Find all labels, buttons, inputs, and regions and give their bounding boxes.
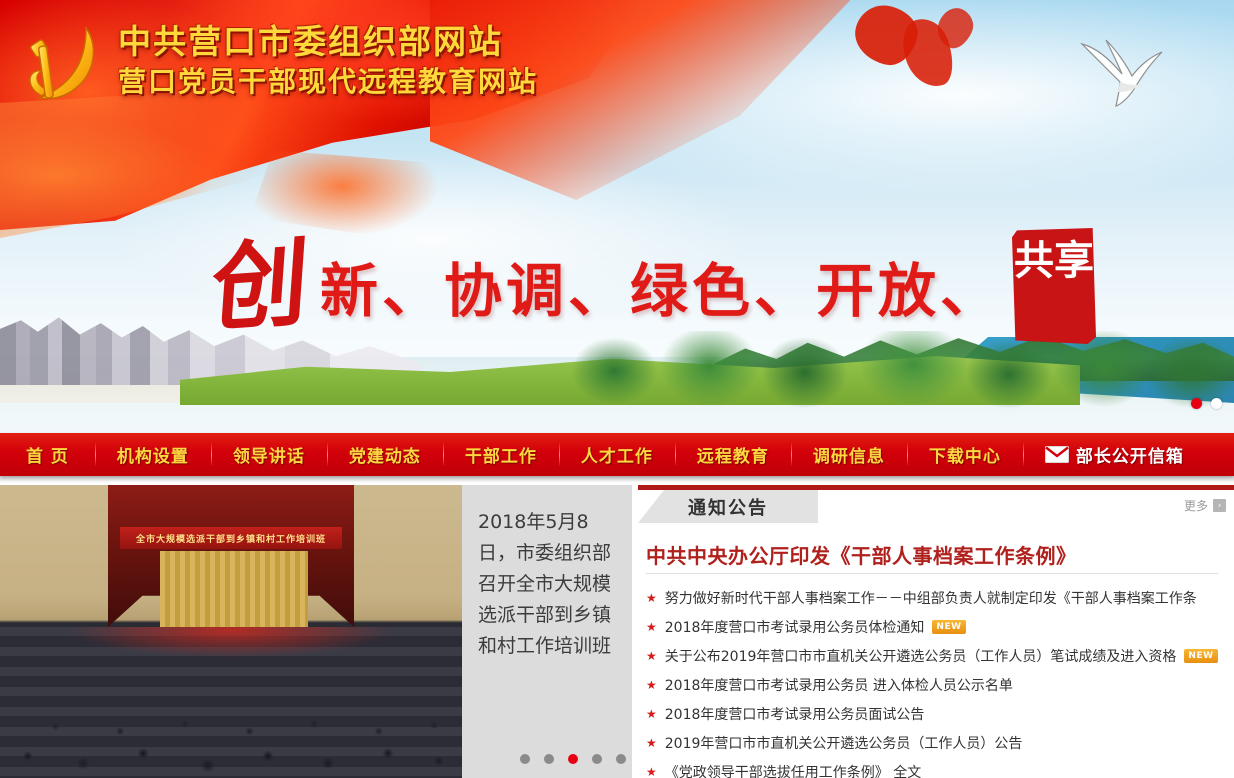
banner-dot[interactable] xyxy=(1191,398,1202,409)
list-item[interactable]: ★ 2018年度营口市考试录用公务员体检通知 NEW xyxy=(646,612,1222,641)
page-root: 中共营口市委组织部网站 营口党员干部现代远程教育网站 创 新、协调、绿色、开放、… xyxy=(0,0,1234,778)
hall-curtain xyxy=(160,551,308,637)
nav-item-talent-work[interactable]: 人才工作 xyxy=(559,433,675,476)
nav-item-party-news[interactable]: 党建动态 xyxy=(327,433,443,476)
list-item-label: 关于公布2019年营口市市直机关公开遴选公务员（工作人员）笔试成绩及进入资格 xyxy=(665,646,1177,666)
new-badge: NEW xyxy=(932,620,965,634)
site-title-sub: 营口党员干部现代远程教育网站 xyxy=(118,64,538,100)
featured-slideshow[interactable]: 全市大规模选派干部到乡镇和村工作培训班 2018年5月8日，市委组织部召开全市大… xyxy=(0,485,632,778)
hall-banner-text: 全市大规模选派干部到乡镇和村工作培训班 xyxy=(120,527,342,549)
list-item[interactable]: ★ 《党政领导干部选拔任用工作条例》 全文 xyxy=(646,757,1222,778)
nav-item-label: 远程教育 xyxy=(697,442,769,467)
star-bullet-icon: ★ xyxy=(646,591,657,605)
list-item[interactable]: ★ 努力做好新时代干部人事档案工作－－中组部负责人就制定印发《干部人事档案工作条 xyxy=(646,583,1222,612)
seagull-icon xyxy=(1076,34,1168,110)
list-item-label: 努力做好新时代干部人事档案工作－－中组部负责人就制定印发《干部人事档案工作条 xyxy=(665,588,1197,608)
nav-item-label: 部长公开信箱 xyxy=(1076,442,1184,467)
notice-top-bar xyxy=(638,485,1234,490)
chevron-right-icon: › xyxy=(1213,499,1226,512)
nav-item-research-info[interactable]: 调研信息 xyxy=(791,433,907,476)
site-title-block: 中共营口市委组织部网站 营口党员干部现代远程教育网站 xyxy=(118,22,538,100)
star-bullet-icon: ★ xyxy=(646,620,657,634)
nav-item-label: 党建动态 xyxy=(349,442,421,467)
slideshow-dot[interactable] xyxy=(568,754,578,764)
list-item[interactable]: ★ 2019年营口市市直机关公开遴选公务员（工作人员）公告 xyxy=(646,728,1222,757)
slideshow-dots[interactable] xyxy=(520,754,626,764)
new-badge: NEW xyxy=(1184,649,1217,663)
nav-item-label: 下载中心 xyxy=(929,442,1001,467)
nav-item-label: 领导讲话 xyxy=(233,442,305,467)
nav-item-organization[interactable]: 机构设置 xyxy=(95,433,211,476)
notice-more-label: 更多 xyxy=(1184,497,1208,514)
notice-panel-tab[interactable]: 通知公告 xyxy=(638,490,818,523)
envelope-icon xyxy=(1045,446,1069,463)
list-item[interactable]: ★ 关于公布2019年营口市市直机关公开遴选公务员（工作人员）笔试成绩及进入资格… xyxy=(646,641,1222,670)
notice-headline[interactable]: 中共中央办公厅印发《干部人事档案工作条例》 xyxy=(646,540,1216,569)
nav-item-distance-education[interactable]: 远程教育 xyxy=(675,433,791,476)
nav-item-label: 调研信息 xyxy=(813,442,885,467)
nav-item-download-center[interactable]: 下载中心 xyxy=(907,433,1023,476)
slogan-seal-left: 创 xyxy=(208,235,311,337)
notice-divider xyxy=(646,573,1218,574)
banner-dots[interactable] xyxy=(1191,398,1222,409)
site-banner: 中共营口市委组织部网站 营口党员干部现代远程教育网站 创 新、协调、绿色、开放、… xyxy=(0,0,1234,433)
notice-panel: 通知公告 更多 › 中共中央办公厅印发《干部人事档案工作条例》 ★ 努力做好新时… xyxy=(632,485,1234,778)
nav-item-label: 首 页 xyxy=(26,442,69,467)
slideshow-dot[interactable] xyxy=(616,754,626,764)
star-bullet-icon: ★ xyxy=(646,765,657,778)
list-item-label: 2019年营口市市直机关公开遴选公务员（工作人员）公告 xyxy=(665,733,1023,753)
slogan-seal-right: 共享 xyxy=(1012,228,1096,344)
slideshow-dot[interactable] xyxy=(544,754,554,764)
notice-more-link[interactable]: 更多 › xyxy=(1184,497,1226,514)
slideshow-dot[interactable] xyxy=(592,754,602,764)
list-item[interactable]: ★ 2018年度营口市考试录用公务员 进入体检人员公示名单 xyxy=(646,670,1222,699)
nav-item-minister-mailbox[interactable]: 部长公开信箱 xyxy=(1023,433,1206,476)
nav-item-label: 干部工作 xyxy=(465,442,537,467)
banner-slogan: 创 新、协调、绿色、开放、 共享 xyxy=(212,228,1096,344)
hall-audience-heads xyxy=(0,655,462,778)
list-item-label: 2018年度营口市考试录用公务员面试公告 xyxy=(665,704,925,724)
banner-dot[interactable] xyxy=(1211,398,1222,409)
nav-item-home[interactable]: 首 页 xyxy=(0,433,95,476)
slogan-text: 新、协调、绿色、开放、 xyxy=(320,244,1002,328)
star-bullet-icon: ★ xyxy=(646,649,657,663)
star-bullet-icon: ★ xyxy=(646,736,657,750)
list-item-label: 2018年度营口市考试录用公务员 进入体检人员公示名单 xyxy=(665,675,1013,695)
site-title-main: 中共营口市委组织部网站 xyxy=(118,22,538,62)
hammer-sickle-emblem xyxy=(12,16,108,112)
nav-item-label: 机构设置 xyxy=(117,442,189,467)
main-content: 全市大规模选派干部到乡镇和村工作培训班 2018年5月8日，市委组织部召开全市大… xyxy=(0,476,1234,778)
list-item[interactable]: ★ 2018年度营口市考试录用公务员面试公告 xyxy=(646,699,1222,728)
slideshow-dot[interactable] xyxy=(520,754,530,764)
list-item-label: 《党政领导干部选拔任用工作条例》 全文 xyxy=(665,762,921,778)
list-item-label: 2018年度营口市考试录用公务员体检通知 xyxy=(665,617,925,637)
slide-photo[interactable]: 全市大规模选派干部到乡镇和村工作培训班 xyxy=(0,485,462,778)
nav-item-leader-speech[interactable]: 领导讲话 xyxy=(211,433,327,476)
slide-caption: 2018年5月8日，市委组织部召开全市大规模选派干部到乡镇和村工作培训班 xyxy=(462,485,632,778)
star-bullet-icon: ★ xyxy=(646,707,657,721)
nav-item-label: 人才工作 xyxy=(581,442,653,467)
main-navigation: 首 页 机构设置 领导讲话 党建动态 干部工作 人才工作 远程教育 调研信息 下… xyxy=(0,433,1234,476)
star-bullet-icon: ★ xyxy=(646,678,657,692)
notice-list: ★ 努力做好新时代干部人事档案工作－－中组部负责人就制定印发《干部人事档案工作条… xyxy=(646,583,1222,778)
nav-item-cadre-work[interactable]: 干部工作 xyxy=(443,433,559,476)
